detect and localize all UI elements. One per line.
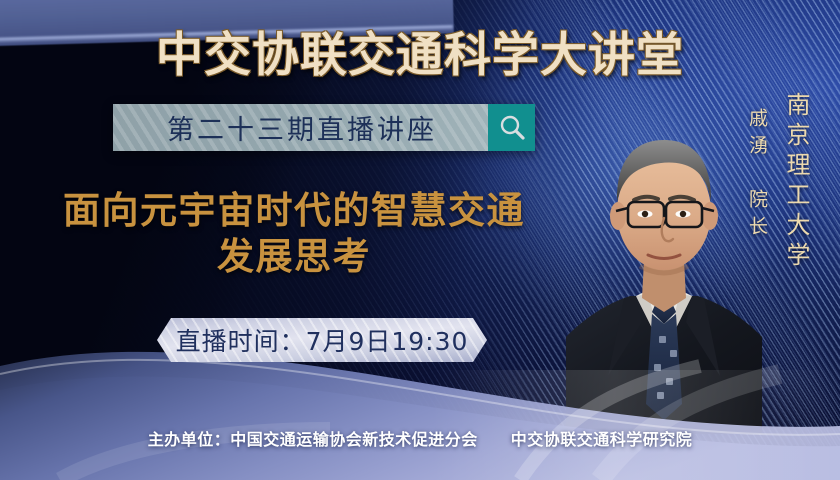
episode-banner: 第二十三期直播讲座 [113,104,535,151]
episode-label: 第二十三期直播讲座 [164,108,437,147]
lecture-title: 面向元宇宙时代的智慧交通 发展思考 [34,188,554,280]
speaker-name-title: 戚湧 院长 [744,108,771,243]
page-title: 中交协联交通科学大讲堂 [0,16,840,85]
live-time-text: 直播时间：7月9日19:30 [176,322,469,358]
lecture-title-line1: 面向元宇宙时代的智慧交通 [63,189,525,232]
lecture-title-line2: 发展思考 [34,234,554,280]
speaker-affiliation: 南京理工大学 [779,92,814,272]
organizer-footer: 主办单位：中国交通运输协会新技术促进分会 中交协联交通科学研究院 [0,426,840,450]
live-time-banner: 直播时间：7月9日19:30 [157,318,487,362]
episode-banner-body: 第二十三期直播讲座 [113,104,488,151]
live-lecture-poster: 中交协联交通科学大讲堂 第二十三期直播讲座 面向元宇宙时代的智慧交通 发展思考 … [0,0,840,480]
search-icon [488,104,535,151]
